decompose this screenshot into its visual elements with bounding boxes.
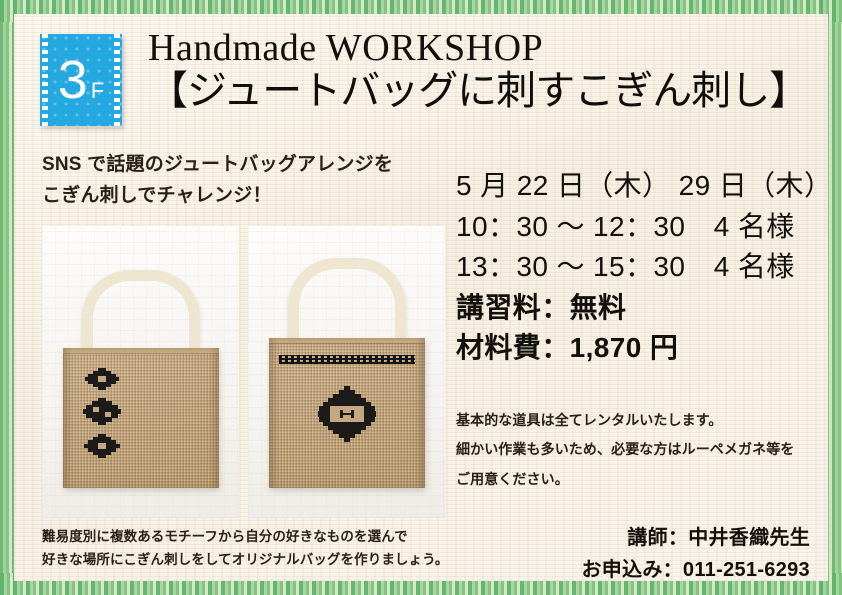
lead-line-2: こぎん刺しでチャレンジ！ (42, 181, 462, 212)
lead-line-1: SNS で話題のジュートバッグアレンジを (42, 150, 462, 181)
page-title-japanese: 【ジュートバッグに刺すこぎん刺し】 (148, 70, 808, 113)
bag-side-shadow-right (210, 348, 219, 488)
booking-phone-number[interactable]: お申込み：011-251-6293 (581, 554, 810, 581)
floor-number: 3 (58, 53, 87, 107)
floor-badge: 3 F (40, 34, 122, 126)
workshop-material-fee: 材料費：1,870 円 (456, 328, 816, 369)
bag-side-shadow-right (416, 338, 425, 488)
bag-side-shadow-left (269, 338, 278, 488)
lead-text: SNS で話題のジュートバッグアレンジを こぎん刺しでチャレンジ！ (42, 150, 462, 212)
photo-gallery (42, 226, 446, 518)
kogin-motif-large-diamond (318, 386, 376, 446)
poster-header: 3 F Handmade WORKSHOP 【ジュートバッグに刺すこぎん刺し】 (40, 24, 818, 134)
photo-caption: 難易度別に複数あるモチーフから自分の好きなものを選んで 好きな場所にこぎん刺しを… (42, 526, 472, 572)
floor-badge-inner: 3 F (58, 53, 105, 107)
workshop-session-1: 10：30 〜 12：30 4 名様 (456, 207, 816, 248)
workshop-poster: 3 F Handmade WORKSHOP 【ジュートバッグに刺すこぎん刺し】 … (0, 0, 842, 595)
bag-body (63, 348, 219, 488)
instructor-name: 講師：中井香織先生 (581, 522, 810, 554)
photo-caption-line-1: 難易度別に複数あるモチーフから自分の好きなものを選んで (42, 526, 472, 549)
kogin-motif-diamond-3 (84, 434, 120, 462)
photo-jute-bag-border-motif (248, 226, 445, 518)
workshop-notes: 基本的な道具は全てレンタルいたします。 細かい作業も多いため、必要な方はルーペメ… (456, 406, 828, 494)
bag-top-seam (63, 348, 219, 353)
note-line-1: 基本的な道具は全てレンタルいたします。 (456, 406, 828, 435)
poster-paper-background: 3 F Handmade WORKSHOP 【ジュートバッグに刺すこぎん刺し】 … (14, 14, 828, 581)
workshop-dates: 5 月 22 日（木） 29 日（木） (456, 166, 816, 207)
note-line-2: 細かい作業も多いため、必要な方はルーペメガネ等を (456, 435, 828, 464)
workshop-session-2: 13：30 〜 15：30 4 名様 (456, 247, 816, 288)
bag-body (269, 338, 425, 488)
workshop-tuition-fee: 講習料：無料 (456, 288, 816, 329)
title-block: Handmade WORKSHOP 【ジュートバッグに刺すこぎん刺し】 (148, 28, 808, 113)
page-title-english: Handmade WORKSHOP (148, 28, 808, 68)
kogin-motif-diamond-1 (85, 368, 119, 394)
contact-block: 講師：中井香織先生 お申込み：011-251-6293 (581, 522, 810, 581)
kogin-border-band (279, 355, 415, 364)
note-line-3: ご用意ください。 (456, 465, 828, 494)
photo-caption-line-2: 好きな場所にこぎん刺しをしてオリジナルバッグを作りましょう。 (42, 549, 472, 572)
photo-jute-bag-three-motifs (42, 226, 239, 518)
bag-top-seam (269, 338, 425, 343)
bag-side-shadow-left (63, 348, 72, 488)
workshop-details: 5 月 22 日（木） 29 日（木） 10：30 〜 12：30 4 名様 1… (456, 166, 816, 369)
floor-unit-label: F (91, 78, 104, 104)
kogin-motif-diamond-2 (83, 398, 121, 428)
